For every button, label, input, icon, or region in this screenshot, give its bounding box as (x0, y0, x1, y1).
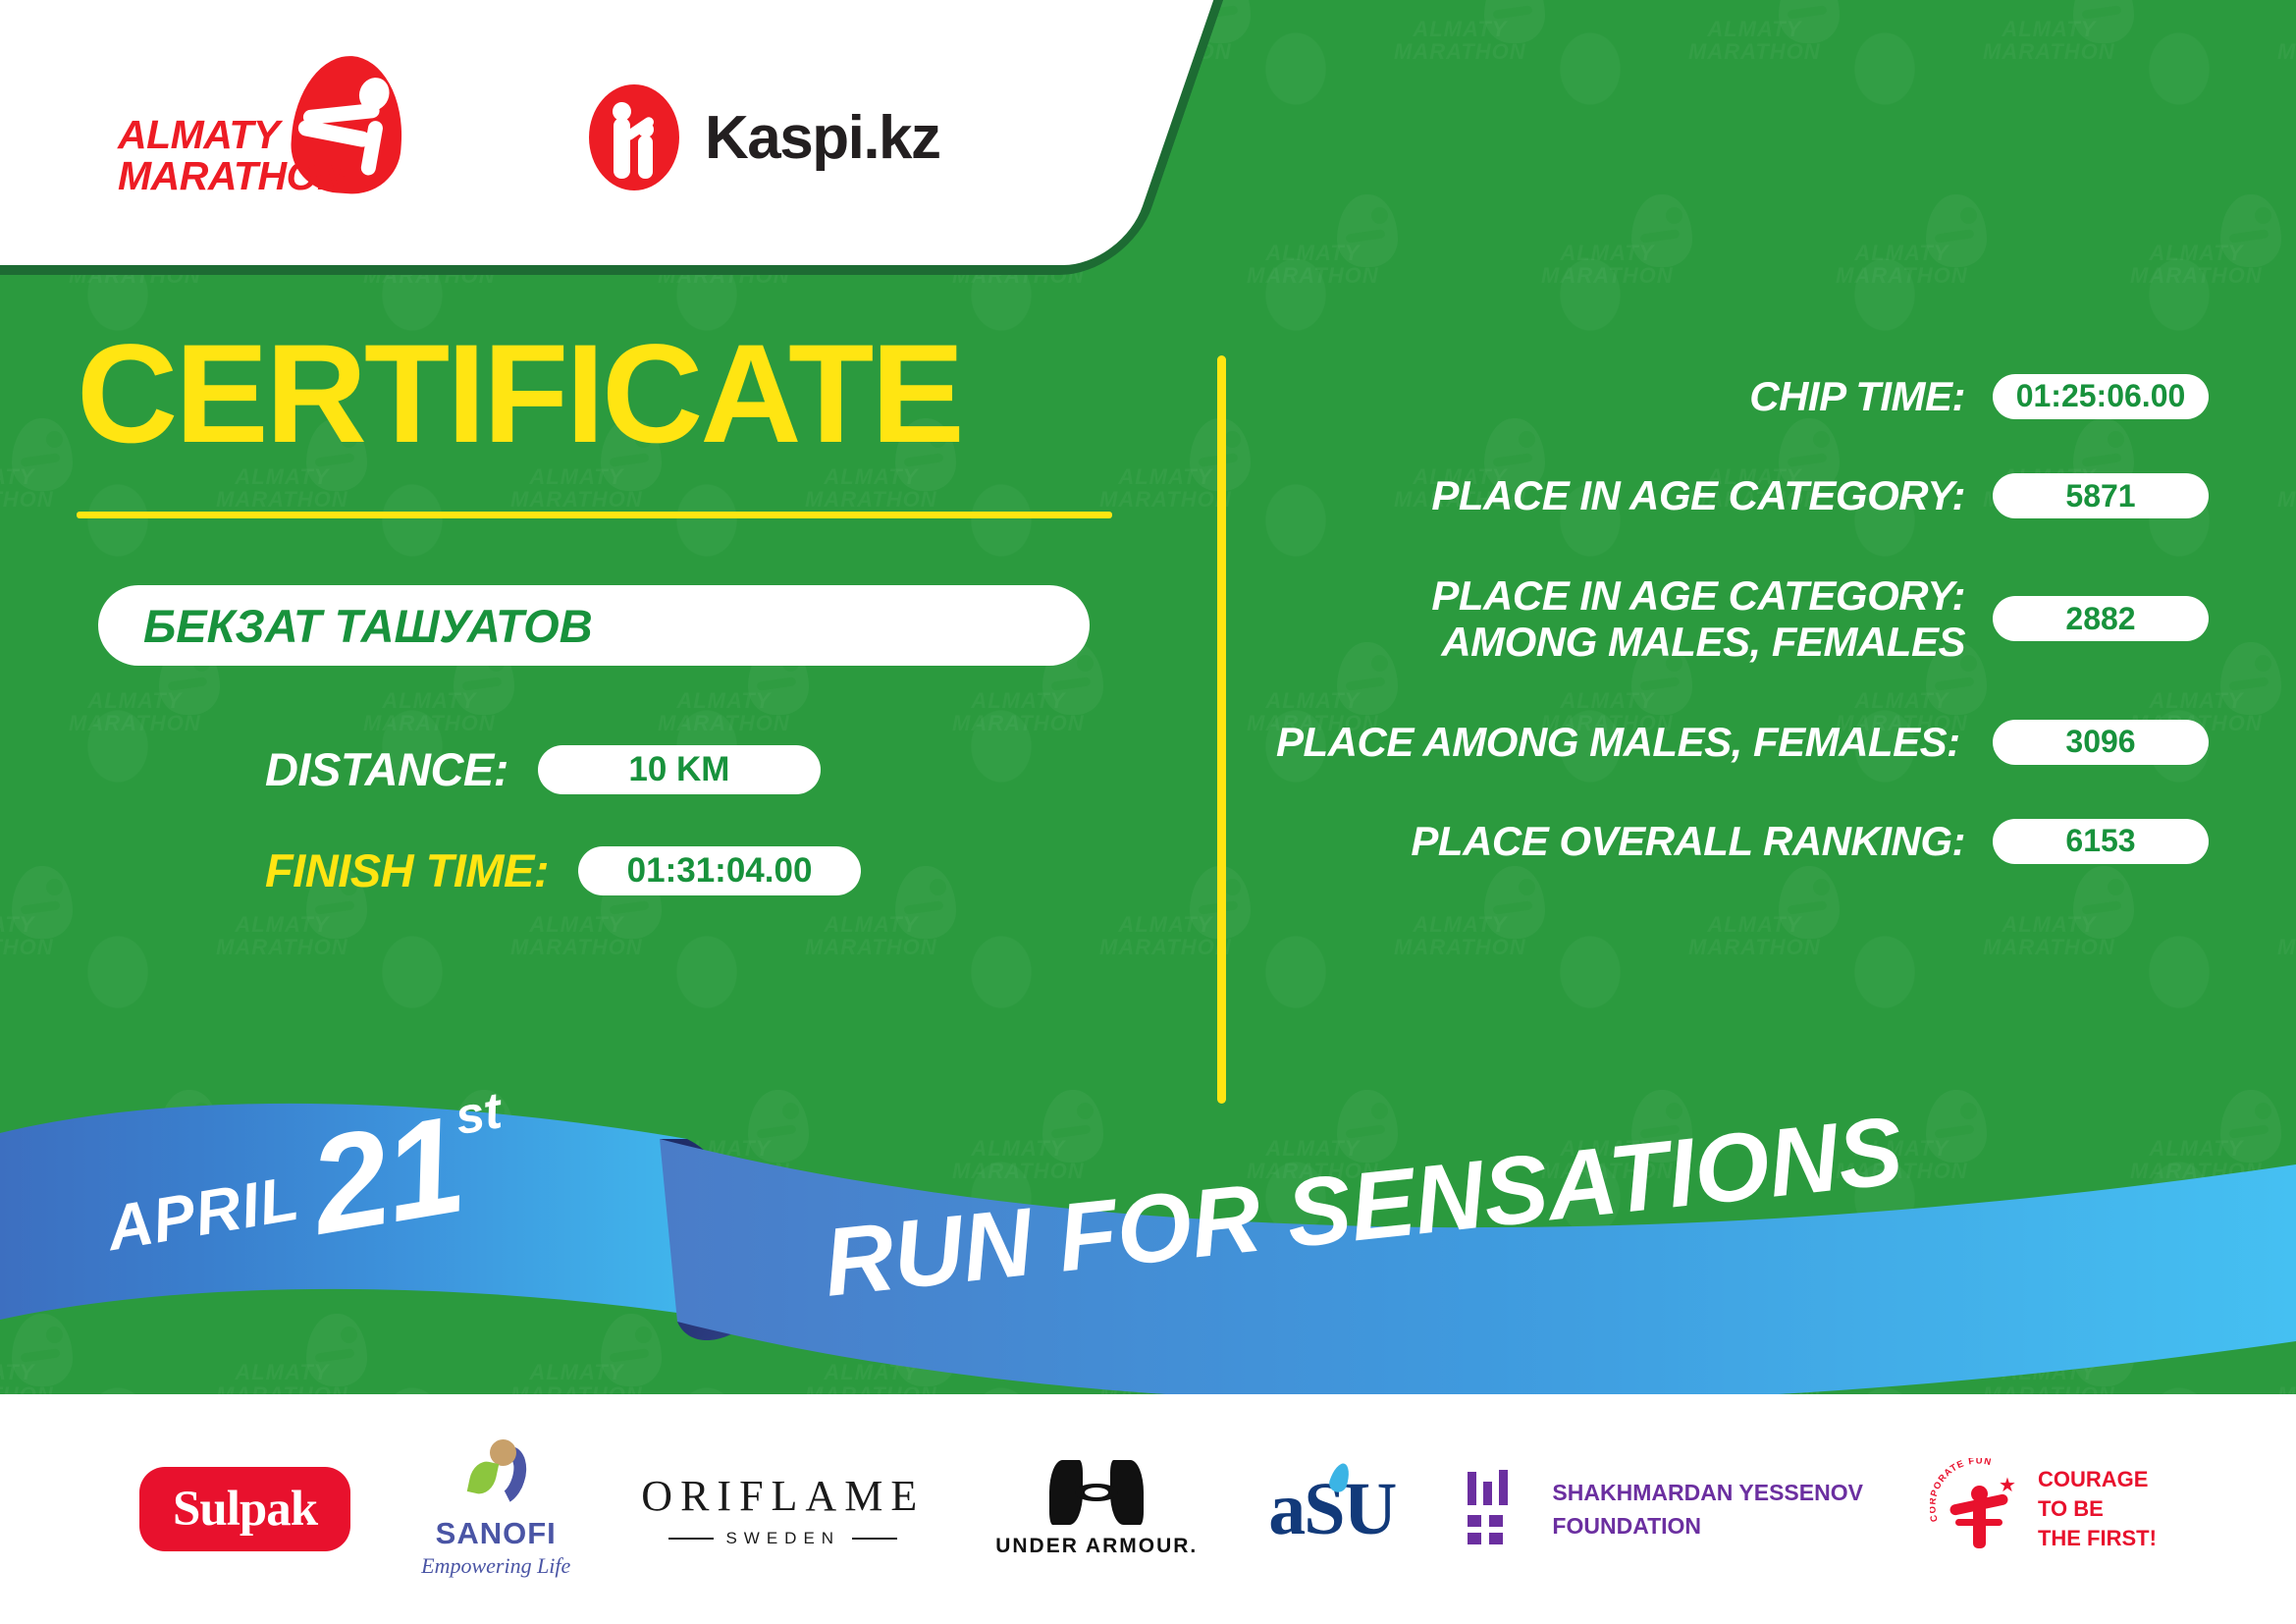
under-armour-logo-icon (1049, 1460, 1144, 1525)
watermark-blob-icon (895, 1314, 956, 1386)
sponsor-oriflame: ORIFLAME SWEDEN (641, 1471, 925, 1548)
runner-leg-icon (360, 120, 384, 177)
sponsor-asu: aSU (1268, 1467, 1395, 1552)
yessenov-line-2: FOUNDATION (1552, 1509, 1863, 1543)
watermark-blob-icon (1926, 1090, 1987, 1163)
brand-line-1: ALMATY (118, 115, 346, 156)
corporate-fund-logo-icon: CORPORATE FUND ★ (1934, 1462, 2024, 1556)
finish-time-row: FINISH TIME: 01:31:04.00 (265, 843, 1168, 897)
distance-row: DISTANCE: 10 KM (265, 742, 1168, 796)
watermark-blob-icon (601, 1314, 662, 1386)
kaspi-family-icon (589, 84, 679, 190)
sulpak-wordmark: Sulpak (173, 1481, 317, 1538)
watermark-blob-icon (1042, 1090, 1103, 1163)
yessenov-bar-3 (1499, 1470, 1508, 1505)
watermark-blob-icon (1484, 1314, 1545, 1386)
yessenov-sq-2 (1489, 1515, 1503, 1527)
page-title: CERTIFICATE (0, 324, 1168, 464)
watermark-blob-icon (1337, 194, 1398, 267)
sanofi-tagline: Empowering Life (421, 1553, 570, 1579)
age-category-value: 5871 (2065, 478, 2135, 514)
watermark-blob-icon (748, 1090, 809, 1163)
sanofi-logo-icon (460, 1439, 531, 1514)
corporate-fund-wordmark: COURAGE TO BE THE FIRST! (2038, 1465, 2157, 1552)
chip-time-label: CHIP TIME: (1276, 373, 1965, 419)
almaty-marathon-wordmark: ALMATY MARATHON (118, 115, 346, 197)
watermark-blob-icon (2220, 1090, 2281, 1163)
finish-time-label: FINISH TIME: (265, 843, 549, 897)
watermark-blob-icon (1631, 194, 1692, 267)
distance-value: 10 KM (628, 750, 729, 789)
watermark-text: ALMATYMARATHON (1394, 18, 1526, 63)
corporate-fund-line-3: THE FIRST! (2038, 1524, 2157, 1553)
watermark-text: ALMATYMARATHON (805, 913, 937, 958)
watermark-blob-icon (1779, 0, 1840, 43)
age-category-gender-value: 2882 (2065, 601, 2135, 637)
yessenov-line-1: SHAKHMARDAN YESSENOV (1552, 1476, 1863, 1510)
watermark-text: ALMATYMARATHON (2277, 465, 2296, 511)
watermark-blob-icon (1926, 194, 1987, 267)
result-row-chip-time: CHIP TIME: 01:25:06.00 (1276, 373, 2209, 419)
certificate-canvas: ALMATYMARATHONALMATYMARATHONALMATYMARATH… (0, 0, 2296, 1624)
chip-time-value-pill: 01:25:06.00 (1993, 374, 2209, 419)
yessenov-logo-icon (1466, 1470, 1530, 1548)
age-category-label: PLACE IN AGE CATEGORY: (1276, 472, 1965, 518)
watermark-text: ALMATYMARATHON (2277, 18, 2296, 63)
kaspi-wordmark: Kaspi.kz (705, 103, 940, 173)
yessenov-sq-3 (1468, 1533, 1481, 1544)
watermark-blob-icon (306, 1314, 367, 1386)
result-row-overall: PLACE OVERALL RANKING: 6153 (1276, 818, 2209, 864)
corporate-fund-line-1: COURAGE (2038, 1465, 2157, 1494)
yessenov-sq-1 (1468, 1515, 1481, 1527)
watermark-blob-icon (1779, 1314, 1840, 1386)
watermark-text: ALMATYMARATHON (1099, 913, 1232, 958)
among-gender-value: 3096 (2065, 724, 2135, 760)
participant-name-pill: БЕКЗАТ ТАШУАТОВ (98, 585, 1090, 666)
watermark-blob-icon (2073, 0, 2134, 43)
left-column: CERTIFICATE БЕКЗАТ ТАШУАТОВ DISTANCE: 10… (0, 324, 1168, 897)
oriflame-subline: SWEDEN (668, 1529, 897, 1548)
corporate-fund-belt-icon (1955, 1519, 2002, 1526)
watermark-blob-icon (1484, 0, 1545, 43)
kaspi-child-body-icon (638, 135, 653, 179)
watermark-text: ALMATYMARATHON (1983, 18, 2115, 63)
results-column: CHIP TIME: 01:25:06.00 PLACE IN AGE CATE… (1276, 373, 2209, 918)
kaspi-logo: Kaspi.kz (589, 84, 940, 190)
watermark-text: ALMATYMARATHON (1688, 18, 1821, 63)
sponsor-bar: Sulpak SANOFI Empowering Life ORIFLAME S… (0, 1394, 2296, 1624)
result-row-age-category-gender: PLACE IN AGE CATEGORY: AMONG MALES, FEMA… (1276, 572, 2209, 666)
watermark-text: ALMATYMARATHON (2277, 913, 2296, 958)
finish-time-value-pill: 01:31:04.00 (578, 846, 861, 895)
kaspi-adult-body-icon (614, 118, 630, 179)
vertical-divider (1217, 355, 1226, 1104)
watermark-text: ALMATYMARATHON (1247, 242, 1379, 287)
oriflame-rule-right (852, 1538, 897, 1540)
corporate-fund-star-icon: ★ (1999, 1476, 2016, 1495)
sponsor-under-armour: UNDER ARMOUR. (995, 1460, 1198, 1558)
chip-time-value: 01:25:06.00 (2016, 378, 2186, 414)
almaty-marathon-logo: ALMATY MARATHON (118, 64, 402, 211)
oriflame-wordmark: ORIFLAME (641, 1471, 925, 1521)
age-category-gender-label: PLACE IN AGE CATEGORY: AMONG MALES, FEMA… (1276, 572, 1965, 666)
result-row-among-gender: PLACE AMONG MALES, FEMALES: 3096 (1276, 719, 2209, 765)
watermark-text: ALMATYMARATHON (1541, 242, 1674, 287)
yessenov-bar-1 (1468, 1472, 1476, 1505)
yessenov-wordmark: SHAKHMARDAN YESSENOV FOUNDATION (1552, 1476, 1863, 1543)
watermark-blob-icon (2220, 642, 2281, 715)
oriflame-country: SWEDEN (725, 1529, 840, 1548)
brand-line-2: MARATHON (118, 156, 346, 197)
watermark-text: ALMATYMARATHON (2130, 242, 2263, 287)
event-day: 21 (303, 1109, 469, 1244)
watermark-text: ALMATYMARATHON (952, 1137, 1085, 1182)
sanofi-dot-icon (490, 1439, 516, 1466)
among-gender-label: PLACE AMONG MALES, FEMALES: (1276, 719, 1965, 765)
sponsor-yessenov-foundation: SHAKHMARDAN YESSENOV FOUNDATION (1466, 1470, 1863, 1548)
distance-label: DISTANCE: (265, 742, 508, 796)
sponsor-sanofi: SANOFI Empowering Life (421, 1439, 570, 1579)
overall-ranking-label: PLACE OVERALL RANKING: (1276, 818, 1965, 864)
header-content: ALMATY MARATHON Kaspi.kz (0, 0, 1217, 275)
result-row-age-category: PLACE IN AGE CATEGORY: 5871 (1276, 472, 2209, 518)
watermark-text: ALMATYMARATHON (510, 913, 643, 958)
under-armour-wordmark: UNDER ARMOUR. (995, 1535, 1198, 1558)
watermark-text: ALMATYMARATHON (216, 913, 348, 958)
overall-ranking-value-pill: 6153 (1993, 819, 2209, 864)
age-category-value-pill: 5871 (1993, 473, 2209, 518)
overall-ranking-value: 6153 (2065, 823, 2135, 859)
watermark-text: ALMATYMARATHON (0, 913, 54, 958)
oriflame-rule-left (668, 1538, 714, 1540)
event-day-suffix: st (452, 1081, 507, 1147)
among-gender-value-pill: 3096 (1993, 720, 2209, 765)
yessenov-sq-4 (1489, 1533, 1503, 1544)
watermark-blob-icon (2073, 1314, 2134, 1386)
sanofi-wordmark: SANOFI (436, 1516, 557, 1551)
corporate-fund-line-2: TO BE (2038, 1494, 2157, 1524)
watermark-text: ALMATYMARATHON (2130, 1137, 2263, 1182)
watermark-blob-icon (2220, 194, 2281, 267)
age-category-gender-value-pill: 2882 (1993, 596, 2209, 641)
yessenov-bar-2 (1483, 1482, 1492, 1505)
watermark-text: ALMATYMARATHON (658, 1137, 790, 1182)
watermark-text: ALMATYMARATHON (1983, 913, 2115, 958)
distance-value-pill: 10 KM (538, 745, 821, 794)
watermark-text: ALMATYMARATHON (1394, 913, 1526, 958)
participant-name: БЕКЗАТ ТАШУАТОВ (143, 599, 593, 653)
watermark-blob-icon (1190, 1314, 1251, 1386)
sponsor-corporate-fund: CORPORATE FUND ★ COURAGE TO BE THE FIRST… (1934, 1462, 2157, 1556)
finish-time-value: 01:31:04.00 (627, 851, 813, 891)
watermark-blob-icon (12, 1314, 73, 1386)
watermark-text: ALMATYMARATHON (1688, 913, 1821, 958)
event-month: APRIL (101, 1162, 304, 1265)
sponsor-sulpak: Sulpak (139, 1467, 350, 1551)
title-underline (77, 512, 1112, 518)
watermark-text: ALMATYMARATHON (1836, 242, 1968, 287)
